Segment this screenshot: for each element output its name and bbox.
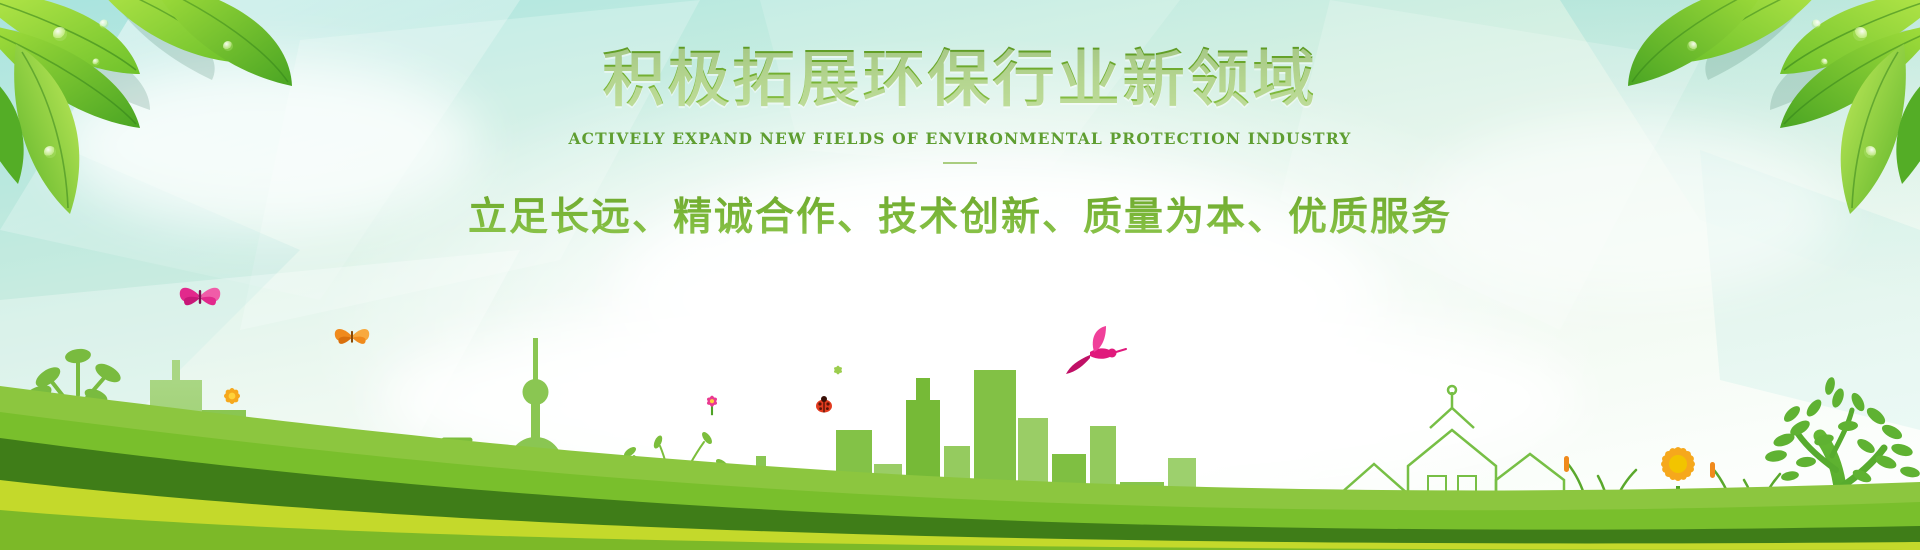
buildings-highrise [836, 370, 1196, 550]
grass-scatter [340, 518, 1788, 550]
buildings-left [128, 360, 314, 550]
wave-band-lime [0, 480, 1920, 550]
wave-band-base [0, 510, 1920, 550]
butterfly-orange [335, 329, 369, 344]
ladybug [816, 396, 832, 413]
divider-rule [943, 162, 977, 164]
dew-drop [53, 27, 67, 41]
dew-drop [1853, 27, 1867, 41]
flower-orange [224, 388, 241, 405]
bicycle [338, 440, 500, 542]
eco-banner: 积极拓展环保行业新领域 ACTIVELY EXPAND NEW FIELDS O… [0, 0, 1920, 550]
hummingbird [1066, 326, 1126, 374]
headline-block: 积极拓展环保行业新领域 ACTIVELY EXPAND NEW FIELDS O… [0, 46, 1920, 242]
wave-band-light-green [0, 386, 1920, 550]
wave-band-dark-green [0, 438, 1920, 550]
grass-tuft-left [200, 488, 252, 550]
dew-drop [1812, 20, 1821, 29]
cattails [1564, 456, 1715, 478]
butterfly-pink [180, 288, 221, 306]
flower-pink-left [706, 396, 718, 416]
page-title: 积极拓展环保行业新领域 [0, 46, 1920, 113]
sprout-center [758, 490, 810, 550]
victorian-house [1340, 386, 1564, 550]
pink-flower [1633, 510, 1651, 550]
sunflower [1648, 446, 1706, 550]
bare-tree-left [40, 362, 116, 540]
sprout-plant [238, 428, 322, 550]
city-skyline [0, 250, 1920, 550]
buildings-center [566, 456, 830, 550]
willow-wisps [0, 350, 1920, 550]
bare-tree-left-leaves [17, 347, 139, 428]
flower-small-center [833, 366, 843, 375]
dew-drop [100, 20, 109, 29]
low-wall-right [1604, 514, 1712, 550]
tree [1764, 376, 1920, 550]
reeds-right [1568, 464, 1780, 550]
oriental-pearl-tower [509, 338, 563, 550]
tagline: 立足长远、精诚合作、技术创新、质量为本、优质服务 [0, 186, 1920, 242]
subtitle-english: ACTIVELY EXPAND NEW FIELDS OF ENVIRONMEN… [0, 129, 1920, 148]
cloud-bottom [380, 300, 1580, 500]
wave-band-green [0, 412, 1920, 550]
wave-bands [0, 320, 1920, 550]
